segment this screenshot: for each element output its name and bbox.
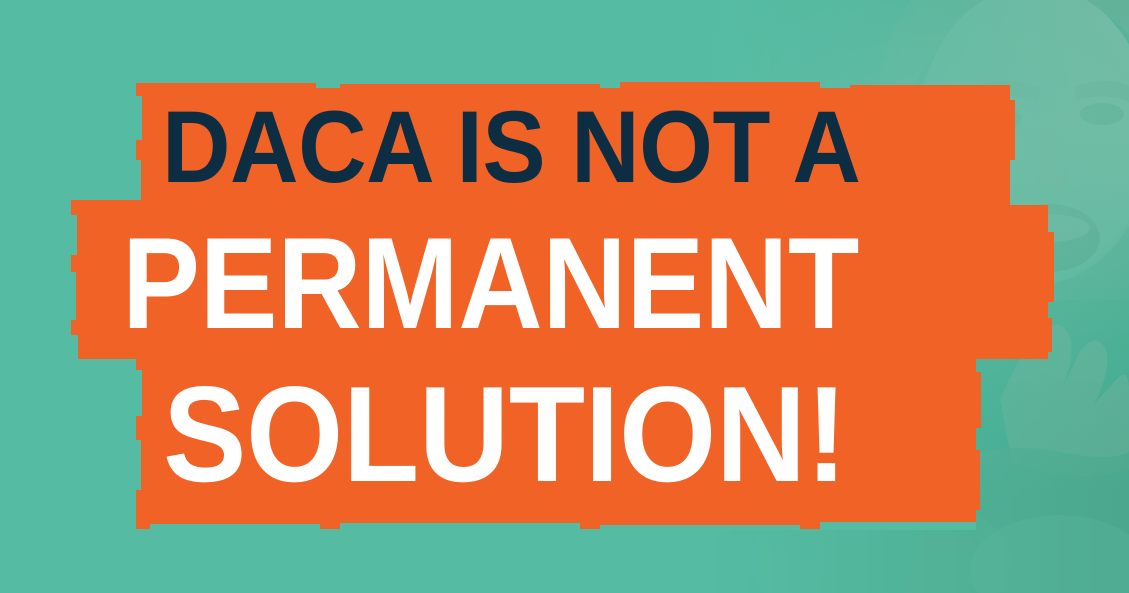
- headline-line-2: PERMANENT: [122, 218, 859, 348]
- band3-edge-nub: [976, 450, 980, 510]
- band1-edge-nub: [850, 85, 1010, 89]
- band3-edge-notch: [136, 440, 141, 490]
- band2-edge-nub: [1048, 318, 1052, 352]
- headline-line-3: SOLUTION!: [163, 366, 847, 502]
- band2-edge-notch: [71, 335, 78, 359]
- band1-edge-notch: [136, 96, 142, 140]
- band1-edge-nub: [340, 84, 600, 89]
- band2-edge-notch: [71, 215, 77, 255]
- poster-canvas: DACA IS NOT A PERMANENT SOLUTION!: [0, 0, 1129, 593]
- band3-edge-notch: [136, 370, 142, 416]
- band3-edge-nub: [976, 372, 981, 428]
- band1-edge-nub: [1010, 100, 1015, 160]
- band2-edge-notch: [71, 272, 76, 320]
- headline-line-1: DACA IS NOT A: [162, 96, 860, 198]
- band1-edge-nub: [620, 82, 820, 89]
- band3-edge-notch: [600, 525, 800, 530]
- band3-edge-notch: [340, 523, 580, 530]
- band3-edge-notch: [820, 522, 976, 530]
- band1-edge-nub: [136, 83, 316, 89]
- band2-edge-nub: [1048, 232, 1054, 302]
- band3-edge-notch: [150, 524, 320, 530]
